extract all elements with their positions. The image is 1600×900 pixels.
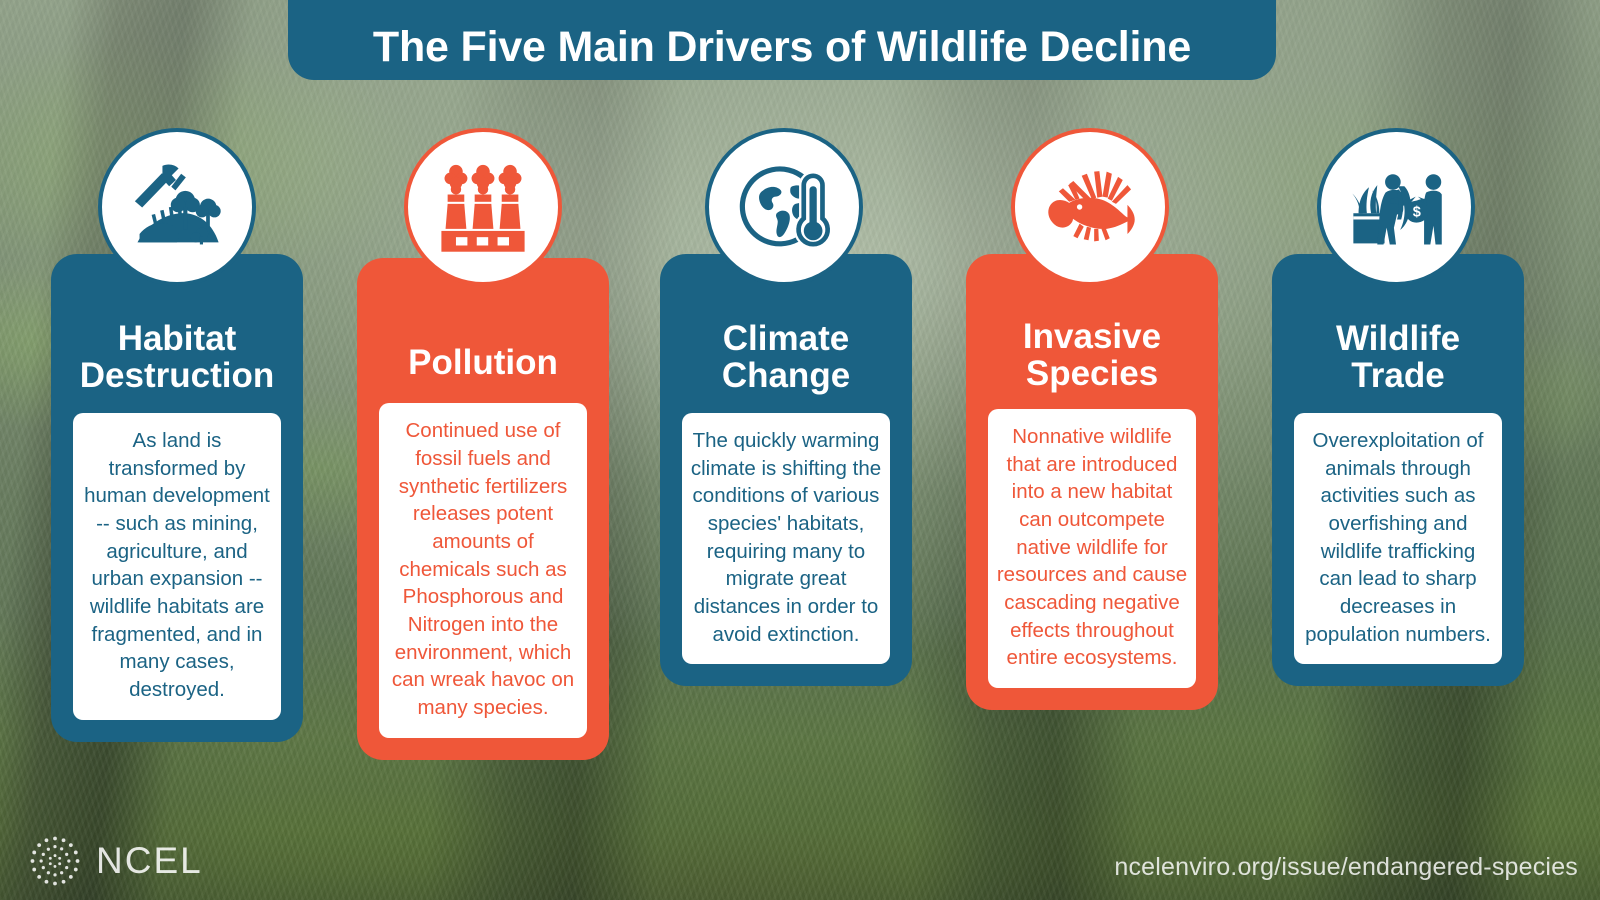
ncel-logo: NCEL [28, 834, 203, 888]
globe-thermometer-icon [732, 155, 836, 259]
icon-badge-wildlife-trade: $ [1317, 128, 1475, 286]
factory-smokestacks-icon [431, 155, 535, 259]
card-title-climate-change: Climate Change [714, 320, 858, 395]
lionfish-icon [1038, 155, 1142, 259]
driver-card-climate-change[interactable]: Climate Change The quickly warming clima… [660, 254, 912, 686]
driver-card-pollution[interactable]: Pollution Continued use of fossil fuels … [357, 258, 609, 760]
card-title-invasive-species: Invasive Species [1015, 318, 1169, 393]
axe-and-trees-icon [125, 155, 229, 259]
icon-badge-invasive-species [1011, 128, 1169, 286]
animal-trade-icon: $ [1344, 155, 1448, 259]
card-body-climate-change: The quickly warming climate is shifting … [682, 413, 890, 664]
icon-badge-pollution [404, 128, 562, 286]
card-title-wildlife-trade: Wildlife Trade [1328, 320, 1468, 395]
infographic-canvas: The Five Main Drivers of Wildlife Declin… [0, 0, 1600, 900]
footer-url[interactable]: ncelenviro.org/issue/endangered-species [1114, 853, 1578, 882]
card-body-wildlife-trade: Overexploitation of animals through acti… [1294, 413, 1502, 664]
card-title-pollution: Pollution [400, 344, 566, 381]
ncel-dotted-circle-icon [28, 834, 82, 888]
driver-card-habitat-destruction[interactable]: Habitat Destruction As land is transform… [51, 254, 303, 742]
ncel-wordmark: NCEL [96, 840, 203, 882]
card-title-habitat-destruction: Habitat Destruction [72, 320, 282, 395]
card-body-invasive-species: Nonnative wildlife that are introduced i… [988, 409, 1196, 688]
card-body-pollution: Continued use of fossil fuels and synthe… [379, 403, 587, 737]
driver-card-wildlife-trade[interactable]: Wildlife Trade Overexploitation of anima… [1272, 254, 1524, 686]
icon-badge-habitat-destruction [98, 128, 256, 286]
driver-card-invasive-species[interactable]: Invasive Species Nonnative wildlife that… [966, 254, 1218, 710]
icon-badge-climate-change [705, 128, 863, 286]
card-body-habitat-destruction: As land is transformed by human developm… [73, 413, 281, 720]
svg-text:$: $ [1413, 204, 1421, 220]
